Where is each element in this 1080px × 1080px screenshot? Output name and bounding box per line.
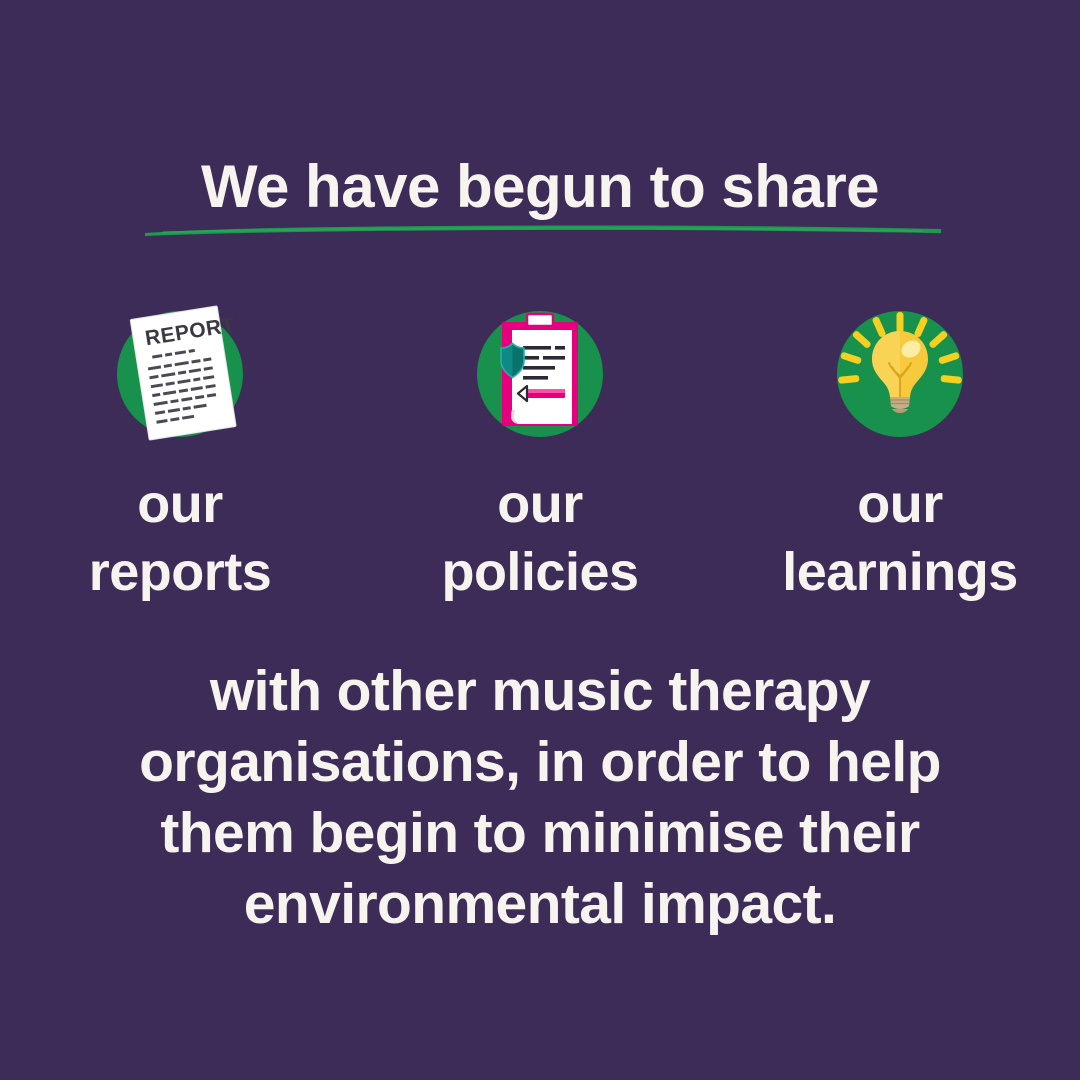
icon-row: REPORT xyxy=(0,300,1080,606)
body-paragraph: with other music therapy organisations, … xyxy=(70,656,1010,940)
green-brush-underline-icon xyxy=(143,220,943,238)
icon-column-learnings: our learnings xyxy=(720,300,1080,606)
body-paragraph-block: with other music therapy organisations, … xyxy=(70,656,1010,940)
policy-clipboard-icon xyxy=(465,300,615,450)
icon-column-reports: REPORT xyxy=(0,300,360,606)
lightbulb-idea-icon xyxy=(825,300,975,450)
icon-column-policies: our policies xyxy=(360,300,720,606)
icon-label-policies: our policies xyxy=(441,470,638,606)
report-document-icon: REPORT xyxy=(105,300,255,450)
icon-label-reports: our reports xyxy=(89,470,272,606)
page-title: We have begun to share xyxy=(0,152,1080,222)
social-post-slide: We have begun to share REPORT xyxy=(0,0,1080,1080)
icon-label-learnings: our learnings xyxy=(782,470,1018,606)
heading-block: We have begun to share xyxy=(0,152,1080,222)
